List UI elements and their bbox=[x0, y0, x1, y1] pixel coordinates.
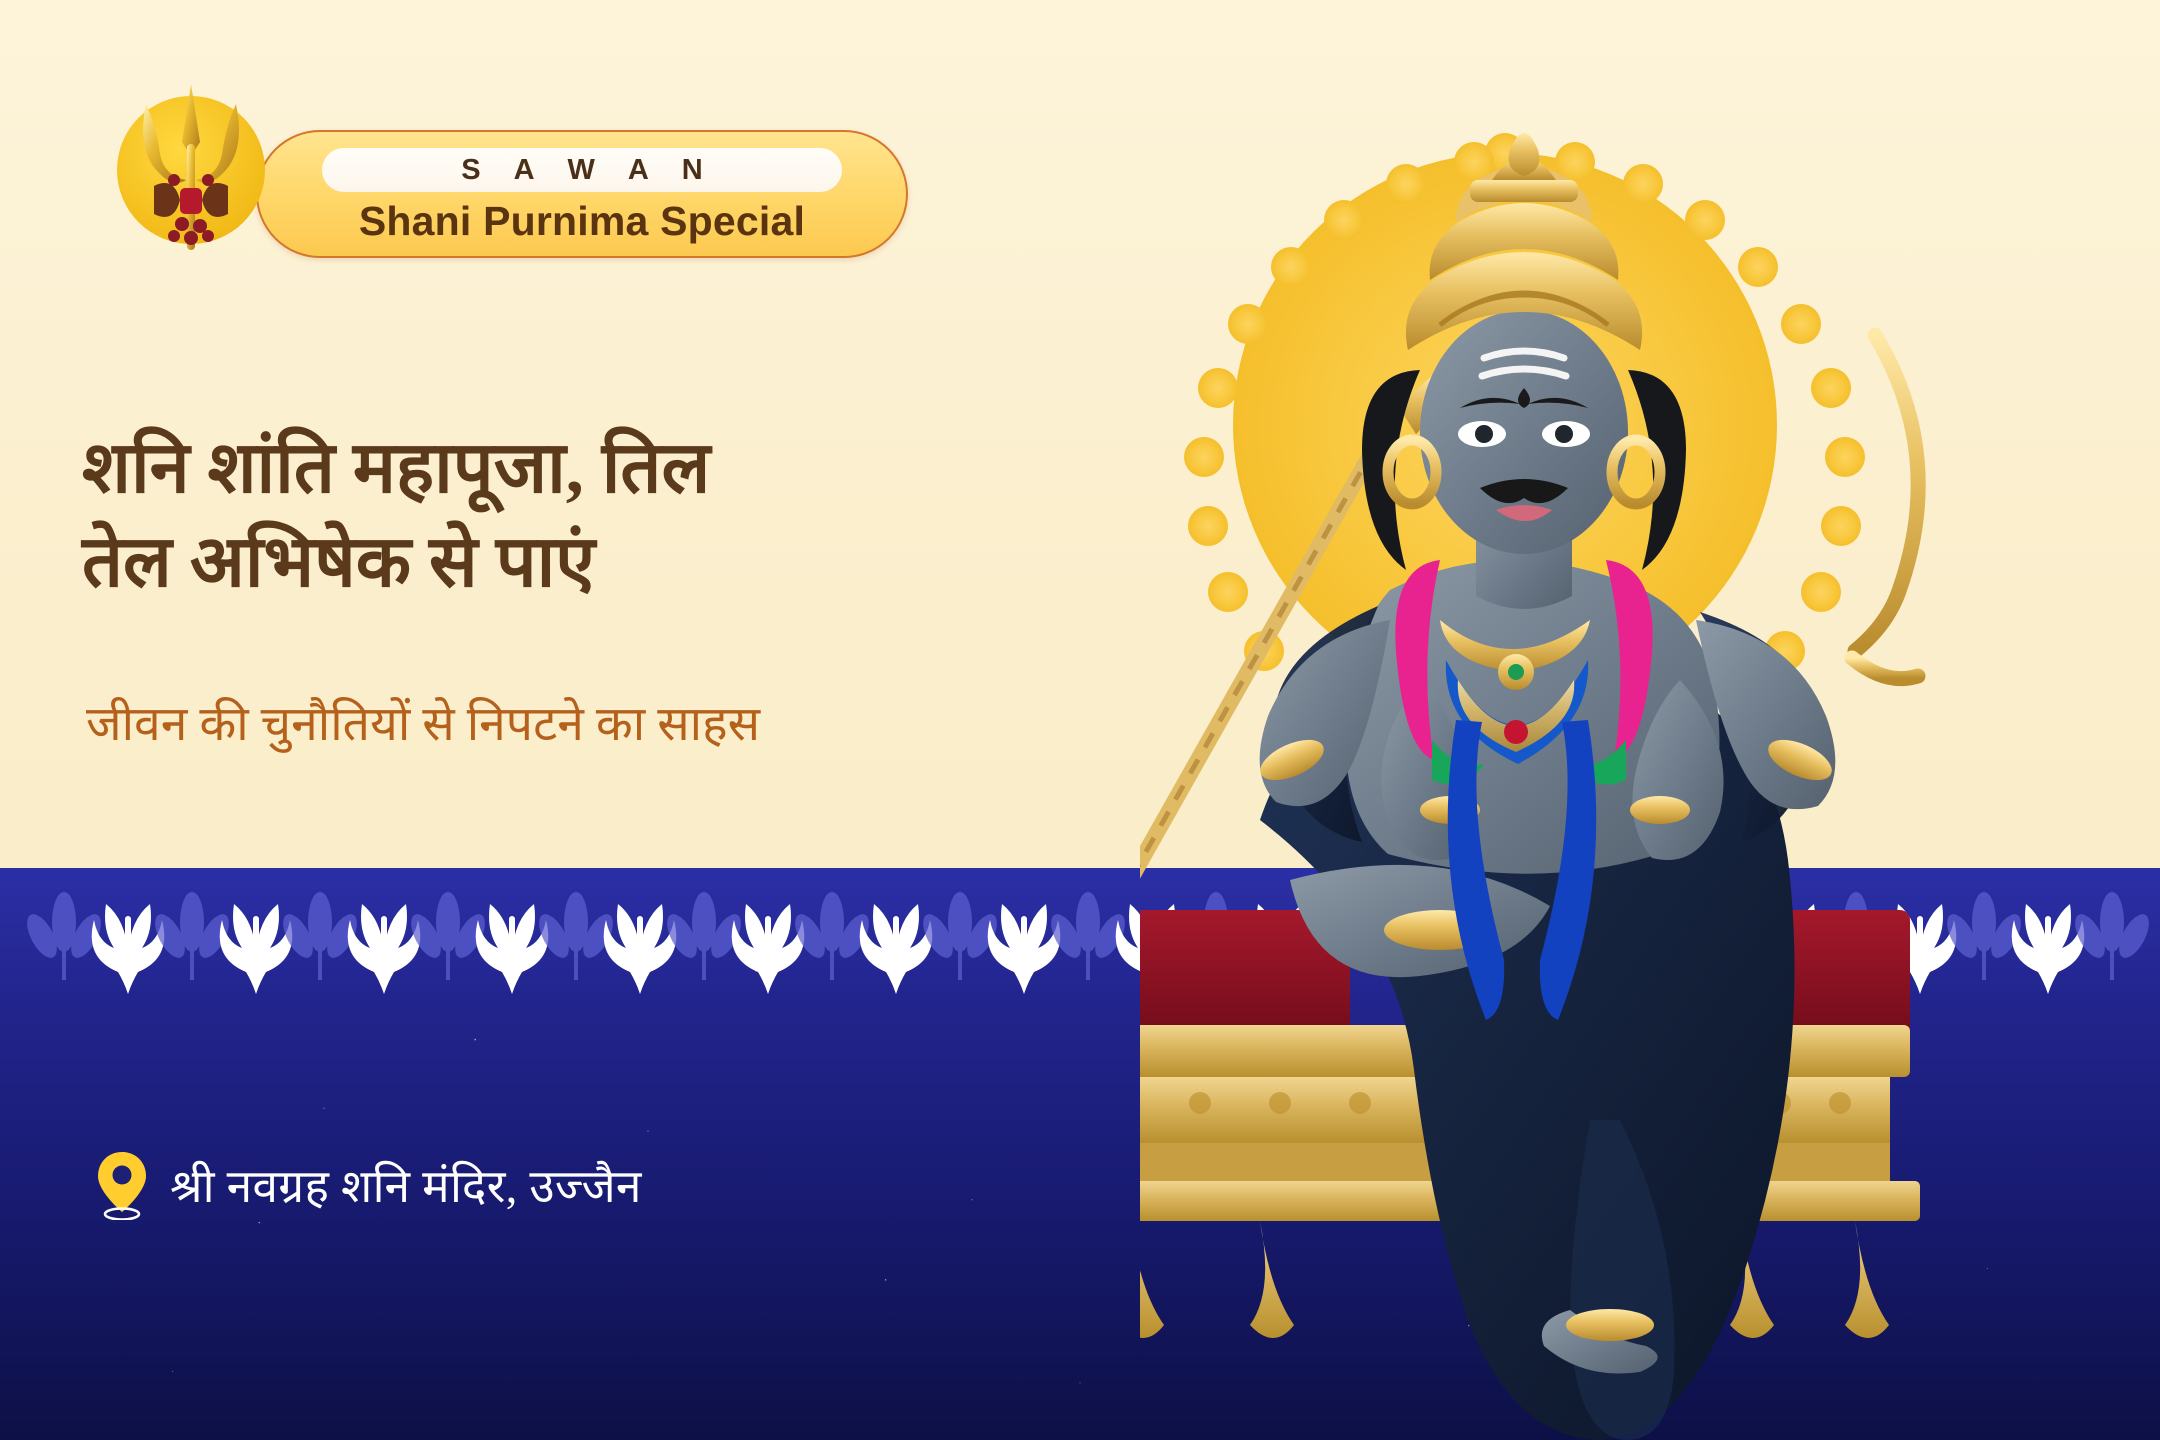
headline-line-2: तेल अभिषेक से पाएं bbox=[82, 516, 1082, 610]
bow-icon bbox=[1852, 335, 1918, 679]
headline-block: शनि शांति महापूजा, तिल तेल अभिषेक से पाए… bbox=[82, 422, 1082, 609]
badge-title: Shani Purnima Special bbox=[359, 198, 805, 245]
sawan-special-badge[interactable]: S A W A N Shani Purnima Special bbox=[256, 130, 908, 258]
poster-root: S A W A N Shani Purnima Special शनि शांत… bbox=[0, 0, 2160, 1440]
badge-eyebrow-pill: S A W A N bbox=[322, 148, 842, 192]
headline-line-1: शनि शांति महापूजा, तिल bbox=[82, 422, 1082, 516]
location-row: श्री नवग्रह शनि मंदिर, उज्जैन bbox=[96, 1150, 642, 1220]
lord-shani-artwork bbox=[1140, 120, 2160, 1440]
map-pin-icon bbox=[96, 1150, 148, 1220]
location-label: श्री नवग्रह शनि मंदिर, उज्जैन bbox=[170, 1154, 642, 1216]
trishul-damru-icon bbox=[108, 78, 274, 256]
badge-eyebrow-label: S A W A N bbox=[448, 154, 715, 187]
subtitle-text: जीवन की चुनौतियों से निपटने का साहस bbox=[86, 690, 1186, 755]
